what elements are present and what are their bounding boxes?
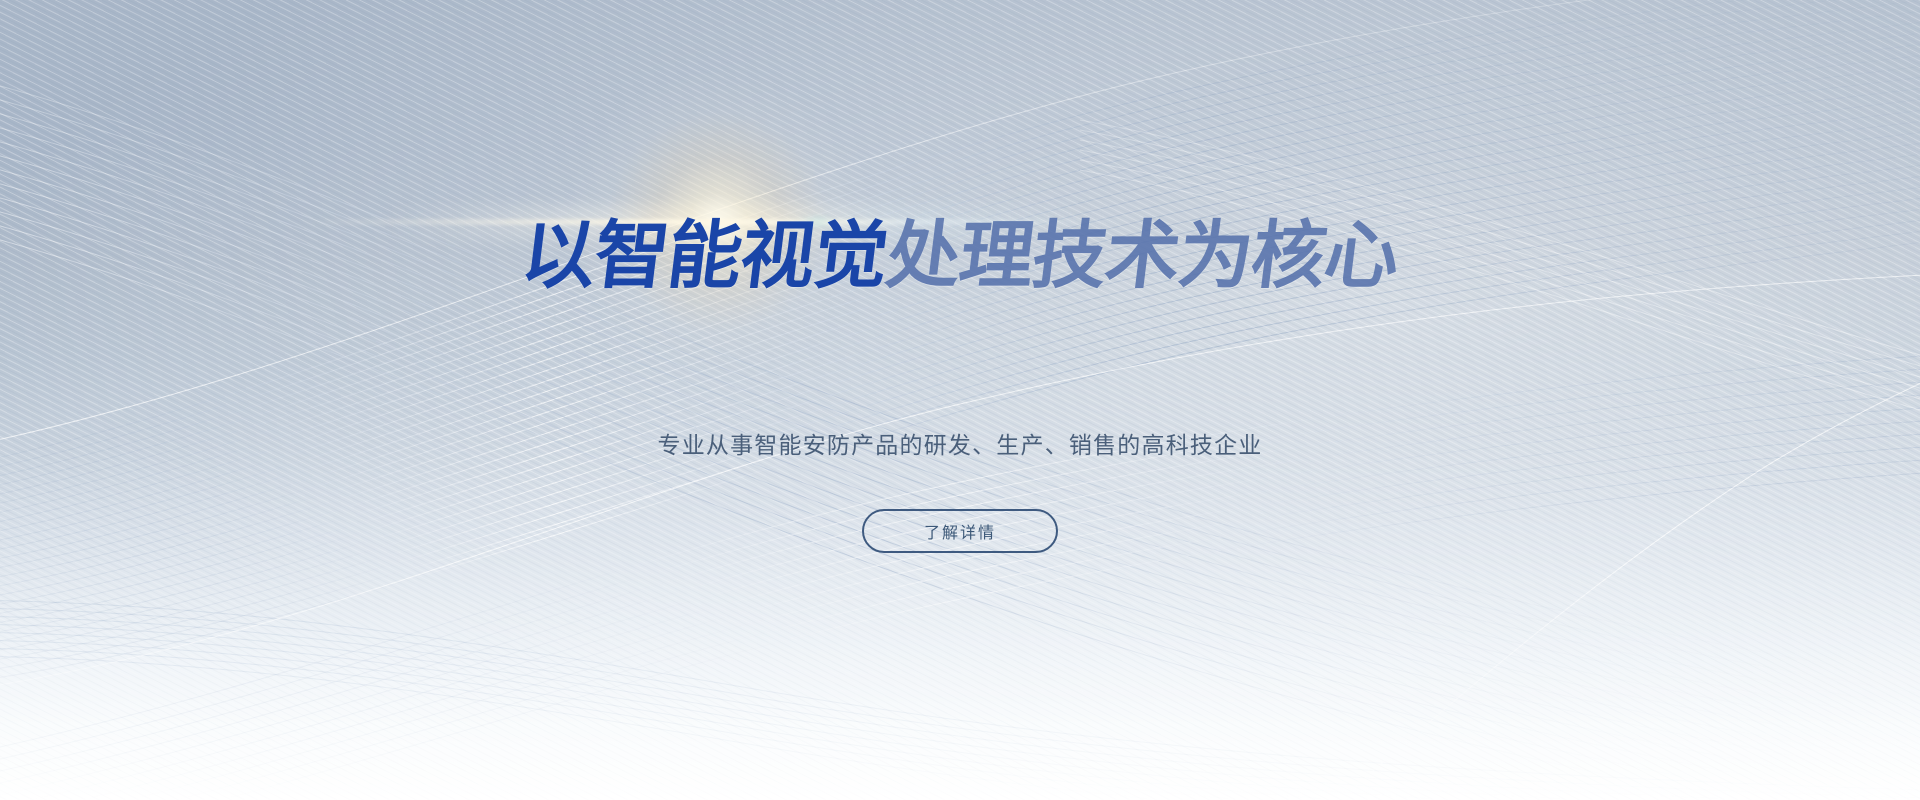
headline-rest: 处理技术为核心 [882, 213, 1404, 299]
background-hatch-texture [0, 0, 1920, 800]
banner-subtitle: 专业从事智能安防产品的研发、生产、销售的高科技企业 [658, 426, 1263, 460]
learn-more-button[interactable]: 了解详情 [862, 509, 1058, 553]
hero-banner: 以智能视觉处理技术为核心 专业从事智能安防产品的研发、生产、销售的高科技企业 了… [0, 0, 1920, 800]
banner-headline: 以智能视觉处理技术为核心 [517, 219, 1402, 293]
headline-emphasis: 以智能视觉 [517, 213, 893, 299]
